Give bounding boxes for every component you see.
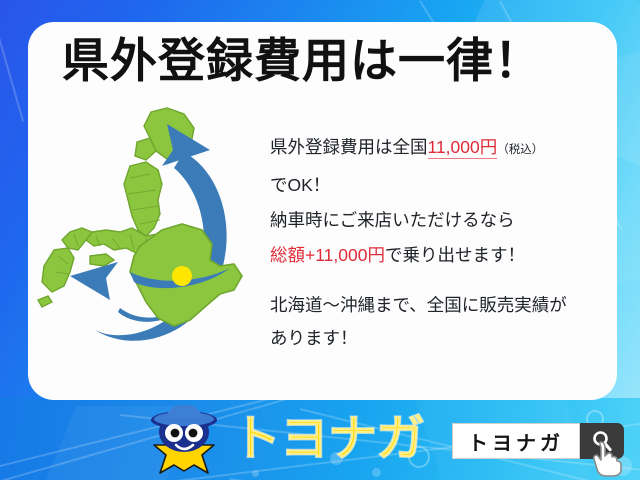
body-line-2: でOK！ [270, 168, 600, 203]
price-amount-tax-included: 11,000円 [428, 137, 498, 159]
mascot-hat-band [154, 412, 214, 426]
tax-note: （税込） [497, 144, 543, 156]
mascot-pupil-left [171, 429, 180, 438]
advertisement-banner: 県外登録費用は一律！ [0, 0, 640, 480]
search-input[interactable]: トヨナガ [452, 423, 580, 459]
body-line-1: 県外登録費用は全国11,000円（税込） [270, 130, 600, 168]
mouse-cursor-icon [592, 440, 626, 478]
page-title: 県外登録費用は一律！ [62, 31, 582, 93]
total-price-amount: 総額+11,000円 [270, 245, 385, 265]
body-line-6: あります！ [270, 322, 600, 355]
japan-map-illustration [34, 104, 266, 390]
body-spacer [270, 273, 600, 289]
body-copy: 県外登録費用は全国11,000円（税込） でOK！ 納車時にご来店いただけるなら… [270, 130, 600, 355]
body-line-4-suffix: で乗り出せます！ [385, 245, 525, 265]
footer-bubble-6 [252, 470, 259, 477]
location-marker [172, 266, 192, 286]
body-line-5: 北海道〜沖縄まで、全国に販売実績が [270, 289, 600, 322]
body-line-4: 総額+11,000円で乗り出せます！ [270, 238, 600, 273]
body-line-3: 納車時にご来店いただけるなら [270, 203, 600, 238]
footer-bubble-2 [372, 468, 381, 477]
search-input-value: トヨナガ [468, 427, 564, 456]
body-line-1-prefix: 県外登録費用は全国 [270, 137, 428, 157]
mascot-character [136, 405, 232, 477]
brand-wordmark: トヨナガ [232, 409, 424, 469]
mascot-pupil-right [189, 429, 198, 438]
